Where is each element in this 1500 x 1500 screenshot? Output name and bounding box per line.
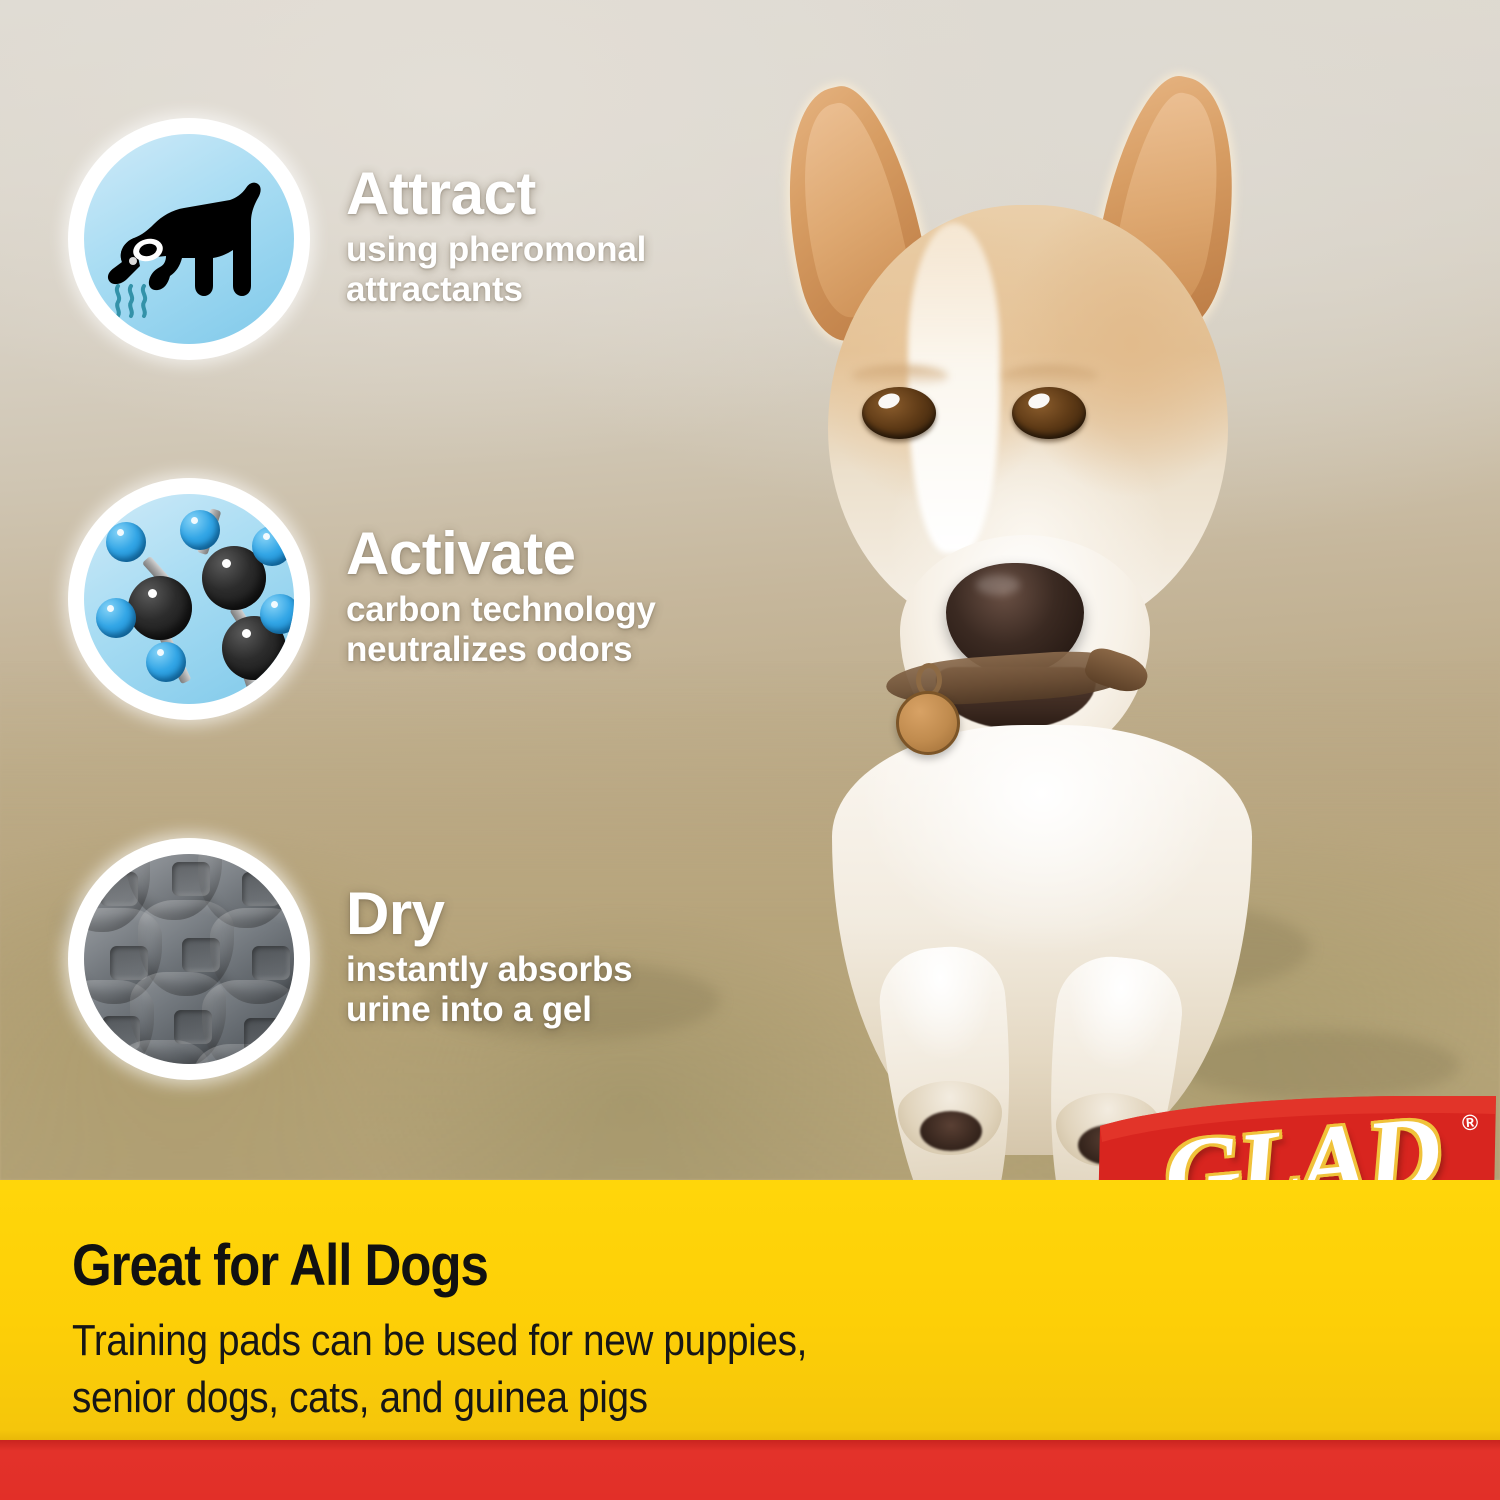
feature-subtitle: instantly absorbs urine into a gel [346, 950, 632, 1030]
feature-subtitle-line: instantly absorbs [346, 950, 632, 990]
feature-subtitle-line: using pheromonal [346, 230, 646, 270]
quilted-pad-texture-icon [68, 838, 310, 1080]
feature-title: Dry [346, 883, 632, 944]
pad-texture-glyph [84, 854, 294, 1064]
feature-subtitle-line: carbon technology [346, 590, 656, 630]
feature-dry: Dry instantly absorbs urine into a gel [68, 838, 632, 1080]
footer-bodycopy-line: senior dogs, cats, and guinea pigs [72, 1369, 978, 1426]
feature-activate: Activate carbon technology neutralizes o… [68, 478, 656, 720]
feature-subtitle-line: urine into a gel [346, 990, 632, 1030]
dog-eye-left [862, 387, 936, 439]
registered-trademark-icon: ® [1461, 1109, 1479, 1136]
footer-bodycopy: Training pads can be used for new puppie… [72, 1312, 978, 1426]
footer-headline: Great for All Dogs [72, 1232, 488, 1299]
product-feature-banner: Attract using pheromonal attractants [0, 0, 1500, 1500]
carbon-molecule-icon [68, 478, 310, 720]
dog-eye-right [1012, 387, 1086, 439]
feature-subtitle: using pheromonal attractants [346, 230, 646, 310]
red-footer-band [0, 1440, 1500, 1500]
dog-brow-right [1002, 365, 1098, 387]
footer-bodycopy-line: Training pads can be used for new puppie… [72, 1312, 978, 1369]
dog-face-blaze [908, 223, 1000, 553]
dog-photo-subject [740, 35, 1360, 1155]
feature-attract: Attract using pheromonal attractants [68, 118, 646, 360]
dog-paw-pad-left [920, 1111, 982, 1151]
feature-title: Activate [346, 523, 656, 584]
feature-title: Attract [346, 163, 646, 224]
feature-subtitle: carbon technology neutralizes odors [346, 590, 656, 670]
dog-sniffing-icon [68, 118, 310, 360]
dog-collar-tag [896, 691, 960, 755]
dog-brow-left [852, 365, 948, 387]
feature-subtitle-line: neutralizes odors [346, 630, 656, 670]
dog-sniffing-glyph [84, 134, 294, 344]
molecule-glyph [84, 494, 294, 704]
feature-subtitle-line: attractants [346, 270, 646, 310]
